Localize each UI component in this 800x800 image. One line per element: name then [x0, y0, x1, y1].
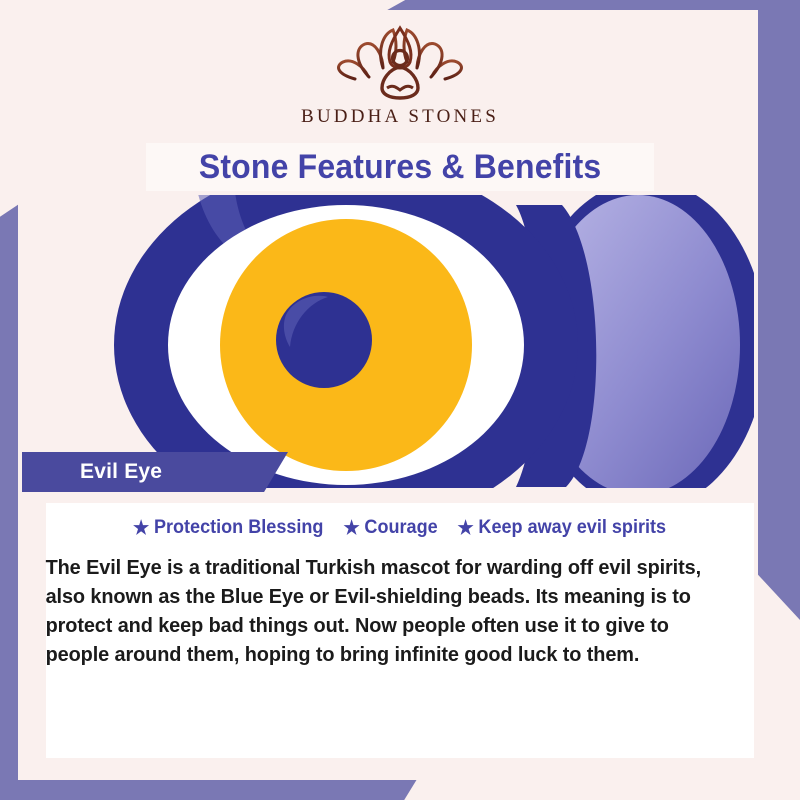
features-row: ★ Protection Blessing ★ Courage ★ Keep a… [46, 517, 754, 539]
brand-name: BUDDHA STONES [301, 106, 499, 128]
poster-canvas: BUDDHA STONES Stone Features & Benefits [0, 0, 800, 800]
hero-label-banner: Evil Eye [22, 452, 288, 492]
feature-label: Keep away evil spirits [478, 517, 666, 539]
hero-image [46, 195, 754, 488]
star-icon: ★ [133, 519, 149, 538]
content-card: ★ Protection Blessing ★ Courage ★ Keep a… [46, 503, 754, 758]
title-banner: Stone Features & Benefits [146, 143, 654, 191]
brand-logo: BUDDHA STONES [0, 22, 800, 142]
feature-item: ★ Protection Blessing [133, 517, 323, 539]
star-icon: ★ [343, 519, 359, 538]
main-bead [114, 195, 578, 488]
hero-label-text: Evil Eye [80, 460, 162, 484]
feature-label: Courage [364, 517, 437, 539]
description-paragraph: The Evil Eye is a traditional Turkish ma… [32, 553, 750, 669]
feature-item: ★ Courage [343, 517, 437, 539]
page-title: Stone Features & Benefits [199, 148, 602, 187]
feature-label: Protection Blessing [154, 517, 324, 539]
star-icon: ★ [458, 519, 474, 538]
evil-eye-bead-illustration [46, 195, 754, 488]
feature-item: ★ Keep away evil spirits [458, 517, 667, 539]
lotus-meditation-figure-icon [325, 22, 475, 104]
